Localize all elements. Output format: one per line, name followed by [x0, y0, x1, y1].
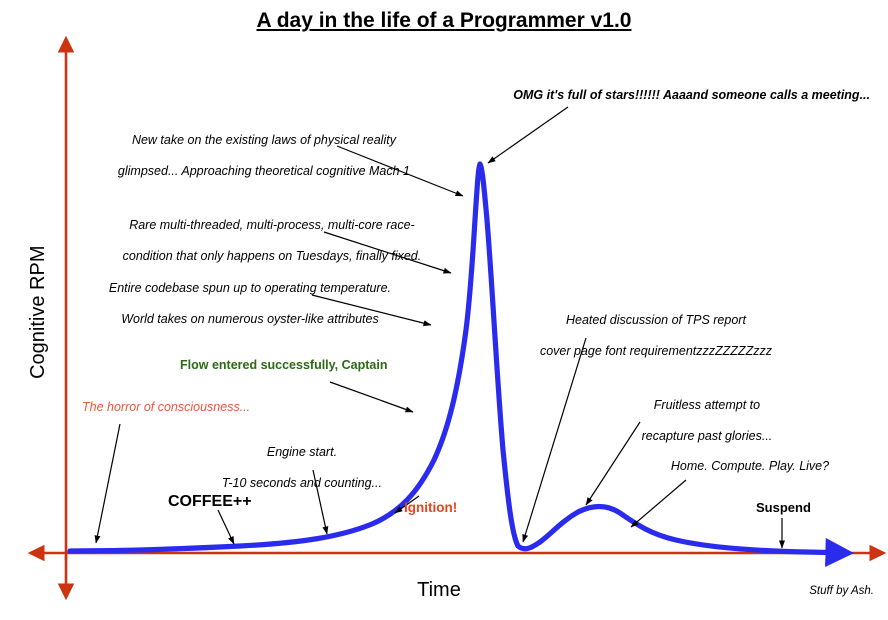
- annotation-race-line1: Rare multi-threaded, multi-process, mult…: [129, 218, 415, 232]
- annotation-home: Home. Compute. Play. Live?: [658, 459, 842, 474]
- chart-title: A day in the life of a Programmer v1.0: [0, 8, 888, 34]
- annotation-tps-line2: cover page font requirementzzzZZZZZzzz: [540, 344, 772, 358]
- annotation-fruitless-line2: recapture past glories...: [642, 429, 773, 443]
- leader-omg: [488, 107, 568, 163]
- x-axis-label: Time: [344, 578, 534, 602]
- annotation-suspend: Suspend: [756, 500, 811, 516]
- annotation-mach1-line2: glimpsed... Approaching theoretical cogn…: [118, 164, 410, 178]
- annotation-codebase-line1: Entire codebase spun up to operating tem…: [109, 281, 391, 295]
- annotation-engine-line2: T-10 seconds and counting...: [222, 476, 382, 490]
- annotation-omg: OMG it's full of stars!!!!!! Aaaand some…: [418, 88, 870, 103]
- annotation-flow: Flow entered successfully, Captain: [180, 358, 387, 373]
- annotation-tps-line1: Heated discussion of TPS report: [566, 313, 746, 327]
- annotation-horror: The horror of consciousness...: [82, 400, 250, 415]
- annotation-race-line2: condition that only happens on Tuesdays,…: [123, 249, 422, 263]
- chart-canvas: A day in the life of a Programmer v1.0 C…: [0, 0, 888, 620]
- annotation-mach1: New take on the existing laws of physica…: [88, 118, 426, 194]
- leader-coffee: [218, 510, 234, 544]
- annotation-coffee: COFFEE++: [168, 492, 252, 512]
- annotation-fruitless-line1: Fruitless attempt to: [654, 398, 760, 412]
- annotation-engine-line1: Engine start.: [267, 445, 337, 459]
- annotation-codebase-line2: World takes on numerous oyster-like attr…: [121, 312, 379, 326]
- leader-home: [631, 480, 686, 527]
- annotation-mach1-line1: New take on the existing laws of physica…: [132, 133, 396, 147]
- annotation-codebase: Entire codebase spun up to operating tem…: [82, 266, 404, 342]
- y-axis-label: Cognitive RPM: [26, 212, 50, 412]
- annotation-tps: Heated discussion of TPS report cover pa…: [504, 298, 794, 374]
- annotation-ignition: Ignition!: [404, 500, 457, 516]
- leader-flow: [330, 382, 413, 412]
- annotation-fruitless: Fruitless attempt to recapture past glor…: [612, 383, 788, 459]
- leader-horror: [96, 424, 120, 543]
- chart-credit: Stuff by Ash.: [744, 584, 874, 598]
